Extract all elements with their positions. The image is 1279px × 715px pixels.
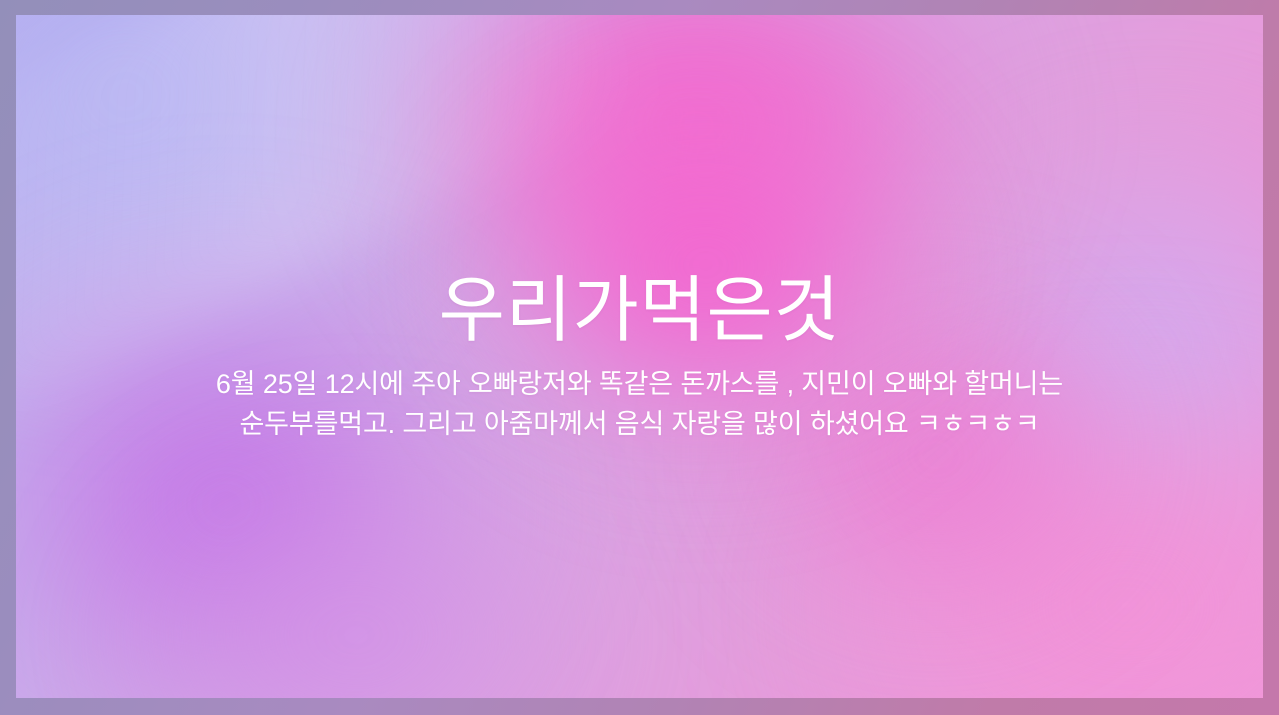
slide-title: 우리가먹은것 bbox=[16, 273, 1263, 351]
slide-subtitle: 6월 25일 12시에 주아 오빠랑저와 똑같은 돈까스를 , 지민이 오빠와 … bbox=[135, 365, 1145, 445]
slide-subtitle-line-2: 순두부를먹고. 그리고 아줌마께서 음식 자랑을 많이 하셨어요 ㅋㅎㅋㅎㅋ bbox=[135, 405, 1145, 445]
slide-frame: 우리가먹은것 6월 25일 12시에 주아 오빠랑저와 똑같은 돈까스를 , 지… bbox=[0, 0, 1279, 715]
slide-canvas: 우리가먹은것 6월 25일 12시에 주아 오빠랑저와 똑같은 돈까스를 , 지… bbox=[16, 15, 1263, 698]
slide-subtitle-line-1: 6월 25일 12시에 주아 오빠랑저와 똑같은 돈까스를 , 지민이 오빠와 … bbox=[135, 365, 1145, 405]
slide-text-block: 우리가먹은것 6월 25일 12시에 주아 오빠랑저와 똑같은 돈까스를 , 지… bbox=[16, 273, 1263, 445]
